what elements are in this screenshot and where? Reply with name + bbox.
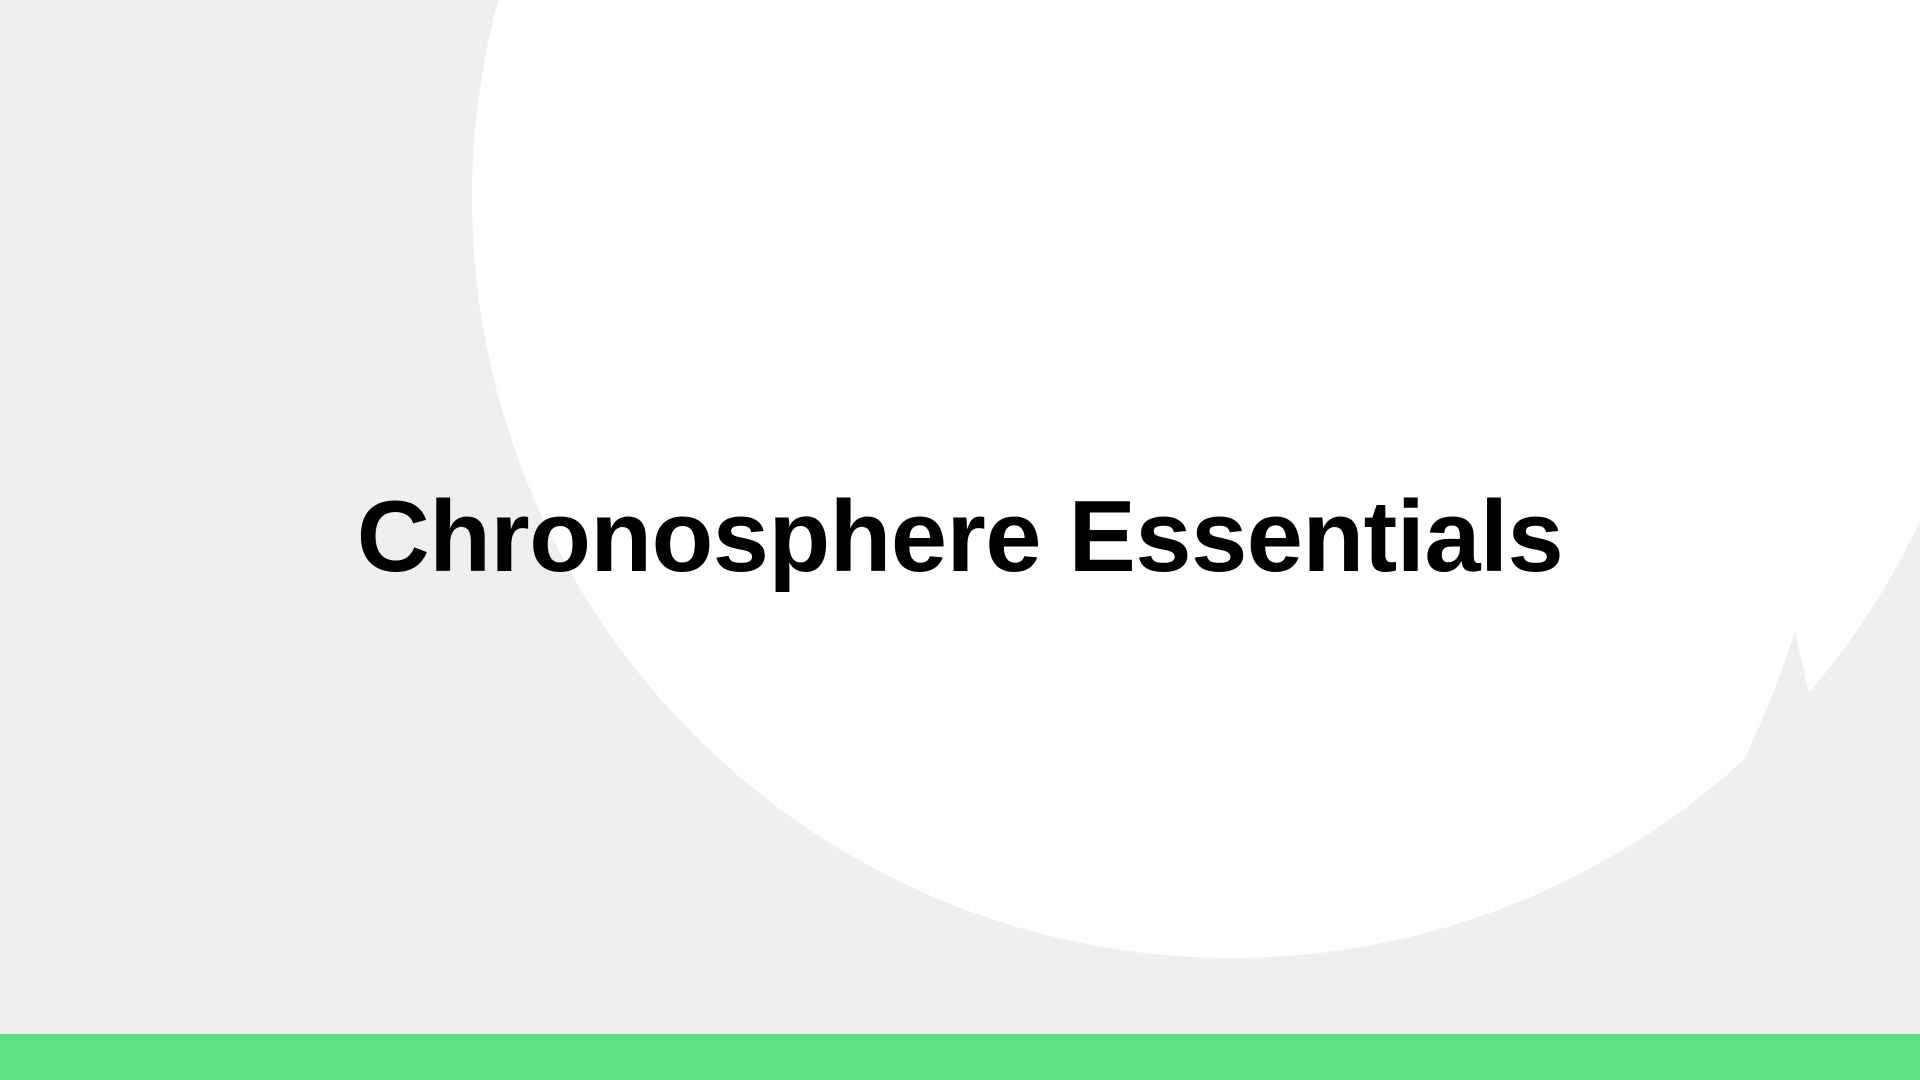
slide-background-graphic: [0, 0, 1920, 1080]
footer-accent-bar: [0, 1034, 1920, 1080]
title-slide: Chronosphere Essentials: [0, 0, 1920, 1080]
